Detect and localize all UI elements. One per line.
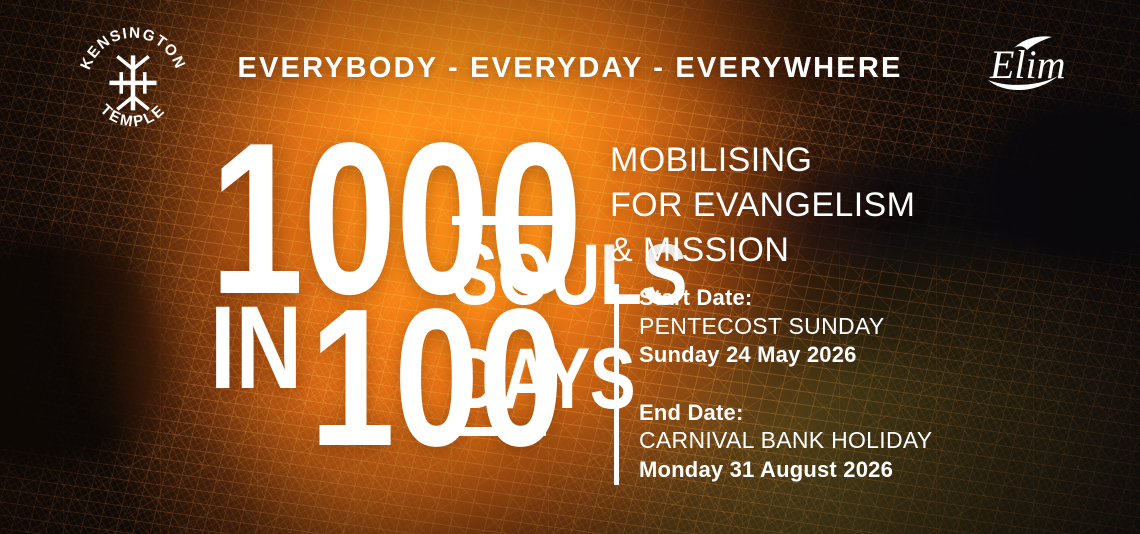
headline-prefix-in: IN [210,282,302,414]
campaign-banner: KENSINGTON TEMPLE [0,0,1140,534]
start-date-label: Start Date: [639,284,932,312]
dates-block: Start Date: PENTECOST SUNDAY Sunday 24 M… [614,284,932,485]
banner-content: KENSINGTON TEMPLE [0,0,1140,534]
end-date-occasion: CARNIVAL BANK HOLIDAY [639,426,932,456]
banner-tagline: EVERYBODY - EVERYDAY - EVERYWHERE [0,52,1140,85]
subheading-line-3: & MISSION [610,228,915,273]
headline-words-stack: SOULS DAYS [452,216,582,436]
end-date-block: End Date: CARNIVAL BANK HOLIDAY Monday 3… [639,399,932,485]
subheading-block: MOBILISING FOR EVANGELISM & MISSION [610,138,915,273]
headline-word-days: DAYS [452,342,556,418]
start-date-block: Start Date: PENTECOST SUNDAY Sunday 24 M… [639,284,932,370]
subheading-line-2: FOR EVANGELISM [610,183,915,228]
start-date-full: Sunday 24 May 2026 [639,341,932,370]
subheading-line-1: MOBILISING [610,138,915,183]
end-date-full: Monday 31 August 2026 [639,456,932,485]
rule-above-souls [452,216,570,225]
start-date-occasion: PENTECOST SUNDAY [639,312,932,342]
headline-word-souls: SOULS [452,238,556,314]
rule-below-days [452,427,546,436]
end-date-label: End Date: [639,399,932,427]
